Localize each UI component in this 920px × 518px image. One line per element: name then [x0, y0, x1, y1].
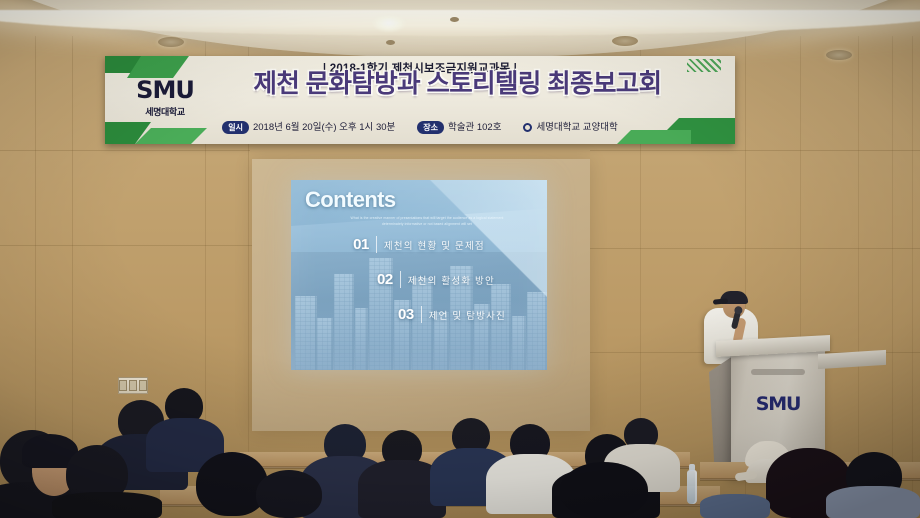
wall-seam-horizontal	[590, 150, 920, 151]
switch-toggle-icon[interactable]	[129, 380, 137, 391]
projection-screen: Contents What is the creative manner of …	[252, 159, 590, 431]
audience-head	[196, 452, 268, 516]
wall-seam-horizontal	[590, 248, 920, 249]
ceiling-downlight-icon	[612, 36, 638, 46]
banner-university-logo: SMU 세명대학교	[125, 78, 205, 118]
slide-subtitle: What is the creative manner of presentat…	[347, 215, 507, 228]
podium-logo: SMU	[731, 393, 825, 415]
switch-toggle-icon[interactable]	[139, 380, 147, 391]
slide-item-divider	[376, 236, 377, 253]
ceiling-downlight-icon	[158, 37, 184, 47]
slide-title: Contents	[305, 187, 396, 213]
audience-shoulders	[700, 494, 770, 518]
slide-contents-item: 02 제천의 활성화 방안	[291, 271, 547, 288]
banner-datetime: 일시2018년 6월 20일(수) 오후 1시 30분	[222, 119, 395, 134]
smoke-detector-icon	[450, 17, 459, 22]
wall-seam-horizontal	[0, 150, 250, 151]
banner-footer: 일시2018년 6월 20일(수) 오후 1시 30분 장소학술관 102호 세…	[105, 119, 735, 134]
slide-item-number: 01	[353, 236, 369, 253]
wall-light-switch[interactable]	[118, 377, 148, 394]
podium-handle-slot	[751, 369, 805, 375]
lecture-hall-scene: ǀ 2018-1학기 제천시보조금지원교과목 ǀ SMU 세명대학교 제천 문화…	[0, 0, 920, 518]
slide-contents-item: 01 제천의 현황 및 문제점	[291, 236, 547, 253]
slide-contents-list: 01 제천의 현황 및 문제점 02 제천의 활성화 방안 03 제언 및 탐방…	[291, 236, 547, 341]
circle-logo-icon	[523, 123, 532, 132]
presentation-slide: Contents What is the creative manner of …	[291, 180, 547, 370]
banner-location-chip: 장소	[417, 121, 444, 134]
slide-item-divider	[400, 271, 401, 288]
slide-item-divider	[421, 306, 422, 323]
speaker-cap	[720, 291, 748, 304]
banner-logo-mark: SMU	[125, 78, 205, 102]
banner-host: 세명대학교 교양대학	[523, 119, 617, 133]
banner-location-value: 학술관 102호	[448, 122, 501, 133]
audience-shoulders	[52, 492, 162, 518]
audience-head	[256, 470, 322, 518]
ceiling-downlight-icon	[826, 50, 852, 60]
slide-contents-item: 03 제언 및 탐방사진	[291, 306, 547, 323]
banner-datetime-value: 2018년 6월 20일(수) 오후 1시 30분	[253, 122, 395, 133]
banner-host-value: 세명대학교 교양대학	[536, 122, 617, 133]
smoke-detector-icon	[386, 40, 395, 45]
banner-logo-subtext: 세명대학교	[125, 105, 205, 118]
event-banner: ǀ 2018-1학기 제천시보조금지원교과목 ǀ SMU 세명대학교 제천 문화…	[105, 56, 735, 144]
slide-item-label: 제천의 현황 및 문제점	[384, 238, 485, 252]
slide-item-number: 03	[398, 306, 414, 323]
banner-location: 장소학술관 102호	[417, 119, 501, 134]
slide-item-label: 제천의 활성화 방안	[408, 273, 495, 287]
audience-head	[560, 462, 648, 518]
audience-shoulders	[826, 486, 920, 518]
slide-item-label: 제언 및 탐방사진	[429, 308, 506, 322]
banner-main-title: 제천 문화탐방과 스토리텔링 최종보고회	[205, 72, 710, 98]
switch-toggle-icon[interactable]	[119, 380, 127, 391]
banner-datetime-chip: 일시	[222, 121, 249, 134]
slide-item-number: 02	[377, 271, 393, 288]
water-bottle	[687, 470, 697, 504]
ceiling-light-hotspot-icon	[372, 14, 406, 32]
wall-seam-horizontal	[0, 245, 252, 246]
